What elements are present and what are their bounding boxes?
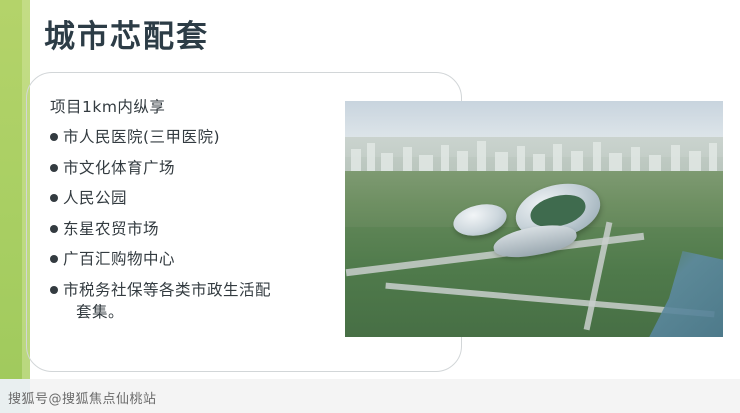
bullet-dot-icon	[50, 133, 58, 141]
list-item-label: 市文化体育广场	[63, 157, 380, 179]
watermark: 搜狐号@搜狐焦点仙桃站	[8, 388, 157, 407]
aerial-photo	[345, 101, 723, 337]
list-item: 市税务社保等各类市政生活配 套集。	[50, 279, 380, 324]
list-item-line-2: 套集。	[63, 301, 380, 323]
bullet-dot-icon	[50, 225, 58, 233]
list-item-label-multiline: 市税务社保等各类市政生活配 套集。	[63, 279, 380, 324]
bullet-dot-icon	[50, 286, 58, 294]
bullet-dot-icon	[50, 255, 58, 263]
list-item-label: 人民公园	[63, 187, 380, 209]
page-title: 城市芯配套	[44, 20, 209, 54]
list-item: 市人民医院(三甲医院)	[50, 126, 380, 148]
list-intro: 项目1km内纵享	[50, 96, 380, 118]
list-item-label: 广百汇购物中心	[63, 248, 380, 270]
list-item-line-1: 市税务社保等各类市政生活配	[63, 281, 271, 299]
list-item: 市文化体育广场	[50, 157, 380, 179]
aerial-photo-image	[345, 101, 723, 337]
list-item-label: 东星农贸市场	[63, 218, 380, 240]
list-item-label: 市人民医院(三甲医院)	[63, 126, 380, 148]
bullet-dot-icon	[50, 164, 58, 172]
list-item: 东星农贸市场	[50, 218, 380, 240]
amenities-list: 项目1km内纵享 市人民医院(三甲医院) 市文化体育广场 人民公园 东星农贸市场…	[50, 96, 380, 332]
slide-canvas: 城市芯配套 项目1km内纵享 市人民医院(三甲医院) 市文化体育广场 人民公园 …	[0, 0, 740, 413]
list-item: 广百汇购物中心	[50, 248, 380, 270]
bullet-dot-icon	[50, 194, 58, 202]
list-item: 人民公园	[50, 187, 380, 209]
